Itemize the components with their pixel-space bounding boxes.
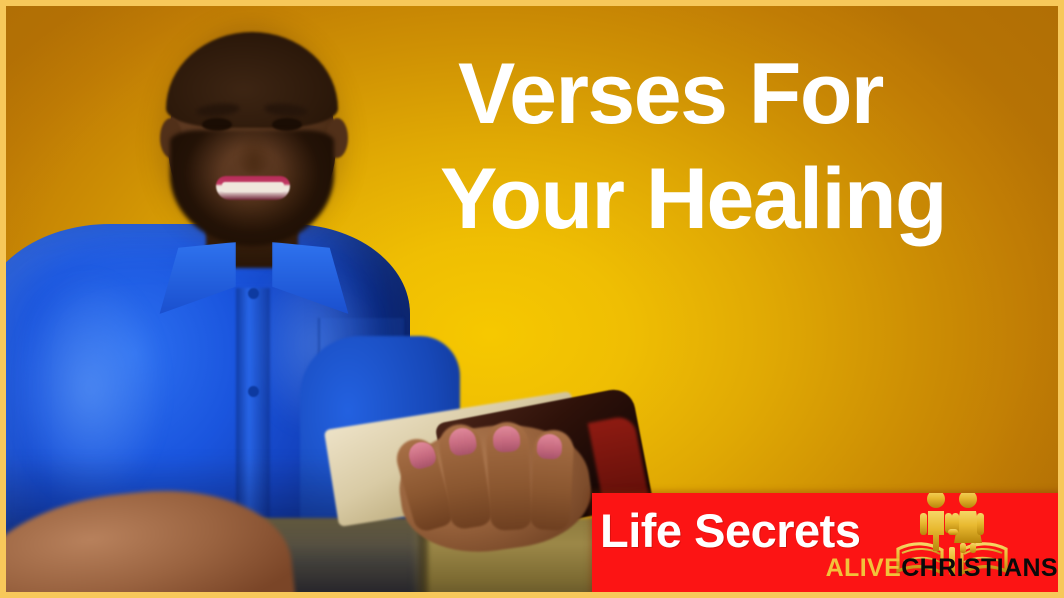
hair [166,32,338,128]
brand-tagline-alive: ALIVE [826,554,902,582]
fingernail [536,433,562,459]
subject-photo [0,6,660,598]
shirt-button-top [248,288,259,299]
brand-tagline-christians: CHRISTIANS [901,554,1058,582]
fingernail [492,425,520,452]
video-thumbnail: Verses For Your Healing Life Secrets [0,0,1064,598]
brand-wordmark: Life Secrets [600,507,860,554]
brand-tagline: ALIVECHRISTIANS [826,556,1058,581]
brand-logo-banner[interactable]: Life Secrets [592,493,1064,598]
shirt-button-lower [248,386,259,397]
teeth [222,182,284,192]
